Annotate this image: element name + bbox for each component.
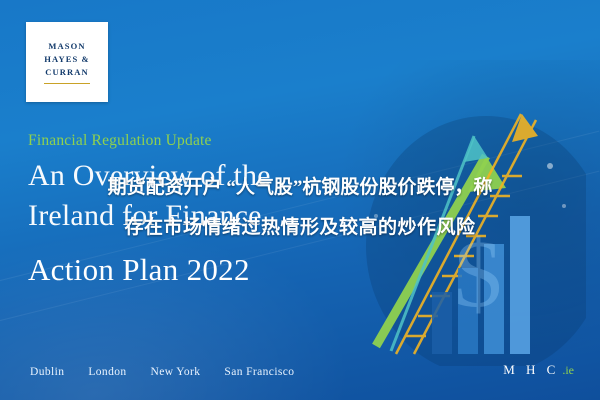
article-headline-line-1: 期货配资开户 “人气股”杭钢股份股价跌停，称 (12, 168, 588, 208)
article-headline-overlay: 期货配资开户 “人气股”杭钢股份股价跌停，称 存在市场情绪过热情形及较高的炒作风… (0, 168, 600, 248)
article-headline-line-2: 存在市场情绪过热情形及较高的炒作风险 (12, 208, 588, 248)
city-new-york: New York (151, 366, 201, 378)
logo-line-1: MASON (48, 40, 85, 53)
city-san-francisco: San Francisco (224, 366, 294, 378)
poster-subheadline: Action Plan 2022 (28, 250, 448, 290)
mason-hayes-curran-logo: MASON HAYES & CURRAN (26, 22, 108, 102)
logo-divider (44, 83, 90, 84)
office-city-list: Dublin London New York San Francisco (30, 366, 294, 378)
poster-eyebrow: Financial Regulation Update (28, 132, 448, 150)
poster-image: MASON HAYES & CURRAN (0, 0, 600, 400)
city-dublin: Dublin (30, 366, 64, 378)
mhc-letters: M H C (503, 362, 559, 378)
mhc-domain-suffix: .ie (562, 363, 574, 378)
city-london: London (88, 366, 126, 378)
mhc-website-mark: M H C .ie (503, 362, 574, 378)
logo-line-3: CURRAN (45, 66, 88, 79)
logo-line-2: HAYES & (44, 53, 89, 66)
